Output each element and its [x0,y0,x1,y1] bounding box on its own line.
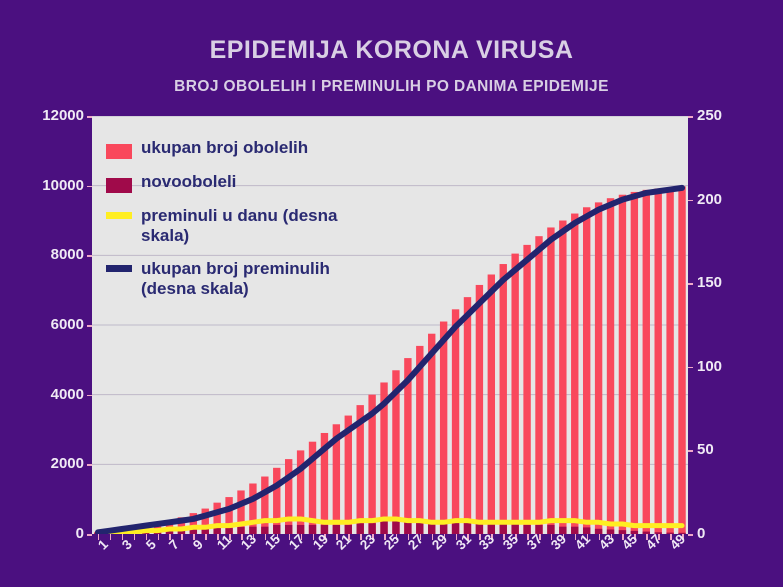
left-axis-tick-mark [87,186,92,188]
right-axis-tick-mark [688,450,693,452]
legend-swatch-icon [106,212,132,219]
left-axis-tick-label: 2000 [0,455,84,472]
left-axis-tick-mark [87,325,92,327]
chart-root: EPIDEMIJA KORONA VIRUSA BROJ OBOLELIH I … [0,0,783,587]
right-axis-tick-label: 50 [697,441,714,458]
left-axis-tick-mark [87,255,92,257]
legend-swatch-icon [106,265,132,272]
x-axis-tick-label: 5 [143,537,159,553]
left-axis-tick-label: 8000 [0,246,84,263]
legend-item[interactable]: ukupan broj obolelih [106,138,406,159]
legend-item[interactable]: preminuli u danu (desna skala) [106,206,406,246]
x-axis-tick-mark [205,534,207,540]
legend-item[interactable]: novooboleli [106,172,406,193]
x-axis-tick-mark [181,534,183,540]
legend-item-label: ukupan broj preminulih (desna skala) [141,259,389,299]
left-axis-tick-label: 12000 [0,107,84,124]
right-axis-tick-mark [688,283,693,285]
legend-item-label: preminuli u danu (desna skala) [141,206,389,246]
x-axis-tick-mark [158,534,160,540]
left-axis-tick-label: 10000 [0,177,84,194]
right-axis-tick-label: 0 [697,525,705,542]
chart-legend: ukupan broj obolelihnovoobolelipreminuli… [106,138,406,312]
right-axis-tick-label: 100 [697,358,722,375]
legend-swatch-icon [106,144,132,159]
x-axis-tick-label: 3 [119,537,135,553]
x-axis-tick-mark [110,534,112,540]
left-axis-tick-label: 6000 [0,316,84,333]
left-axis-tick-label: 4000 [0,386,84,403]
x-axis-tick-label: 1 [95,537,111,553]
x-axis-tick-mark [134,534,136,540]
left-axis-tick-mark [87,395,92,397]
legend-item-label: novooboleli [141,172,236,192]
right-axis-tick-mark [688,534,693,536]
x-axis-tick-label: 7 [166,537,182,553]
right-axis-tick-label: 150 [697,274,722,291]
legend-item[interactable]: ukupan broj preminulih (desna skala) [106,259,406,299]
right-axis-tick-label: 200 [697,191,722,208]
left-axis-tick-label: 0 [0,525,84,542]
legend-swatch-icon [106,178,132,193]
legend-item-label: ukupan broj obolelih [141,138,308,158]
right-axis-tick-mark [688,116,693,118]
left-axis-tick-mark [87,464,92,466]
right-axis-tick-label: 250 [697,107,722,124]
left-axis-tick-mark [87,116,92,118]
chart-title: EPIDEMIJA KORONA VIRUSA [0,36,783,65]
chart-subtitle: BROJ OBOLELIH I PREMINULIH PO DANIMA EPI… [0,78,783,96]
x-axis-tick-label: 9 [190,537,206,553]
right-axis-tick-mark [688,200,693,202]
right-axis-tick-mark [688,367,693,369]
left-axis-tick-mark [87,534,92,536]
